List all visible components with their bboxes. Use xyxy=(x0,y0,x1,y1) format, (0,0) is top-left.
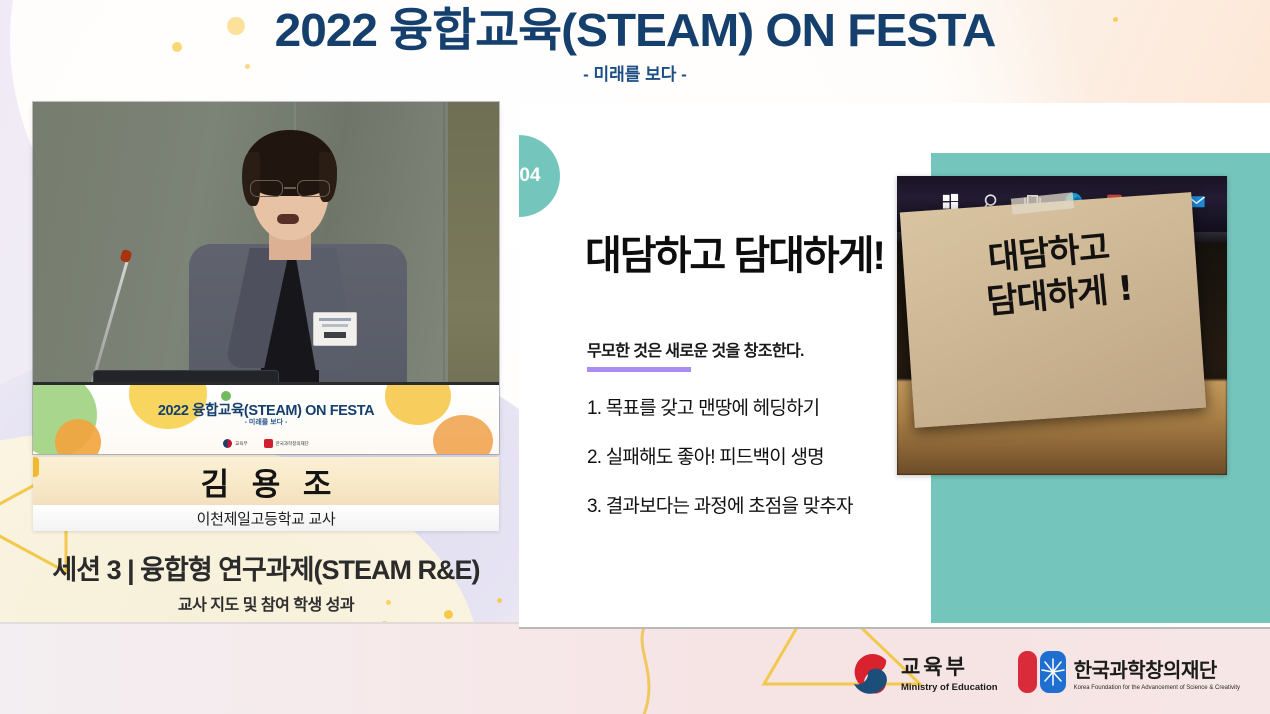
session-title: 세션 3 | 융합형 연구과제(STEAM R&E) xyxy=(33,548,499,587)
kofac-mark-icon xyxy=(264,439,273,448)
podium-logos: 교육부 한국과학창의재단 xyxy=(33,439,499,448)
slide-bullet-list: 1. 목표를 갖고 맨땅에 헤딩하기 2. 실패해도 좋아! 피드백이 생명 3… xyxy=(587,393,853,540)
moe-name-ko: 교육부 xyxy=(901,651,998,681)
podium-logo-moe: 교육부 xyxy=(223,439,247,448)
slide-title: 대담하고 담대하게! xyxy=(585,223,884,281)
session-subtitle: 교사 지도 및 참여 학생 성과 xyxy=(33,591,499,615)
taegeuk-icon xyxy=(223,439,232,448)
logo-kofac: 한국과학창의재단 Korea Foundation for the Advanc… xyxy=(1018,651,1240,693)
kofac-blue-pill xyxy=(1040,651,1066,693)
slide-lead-text: 무모한 것은 새로운 것을 창조한다. xyxy=(587,337,804,361)
presentation-stage: 2022 융합교육(STEAM) ON FESTA - 미래를 보다 - xyxy=(0,0,1270,714)
kofac-red-pill xyxy=(1018,651,1037,693)
kofac-name-en: Korea Foundation for the Advancement of … xyxy=(1074,685,1240,691)
speaker-mouth xyxy=(277,214,299,224)
session-info: 세션 3 | 융합형 연구과제(STEAM R&E) 교사 지도 및 참여 학생… xyxy=(33,548,499,615)
glasses-icon xyxy=(248,180,332,197)
nameplate-tab-decoration xyxy=(33,457,39,477)
speaker-role-row: 이천제일고등학교 교사 xyxy=(33,505,499,531)
kofac-burst-icon xyxy=(1040,651,1066,693)
kofac-text-block: 한국과학창의재단 Korea Foundation for the Advanc… xyxy=(1074,654,1240,691)
speaker-nameplate: 김 용 조 이천제일고등학교 교사 xyxy=(33,457,499,531)
event-subtitle: - 미래를 보다 - xyxy=(0,60,1270,85)
footer-logos: 교육부 Ministry of Education xyxy=(848,650,1240,694)
list-item: 2. 실패해도 좋아! 피드백이 생명 xyxy=(587,442,853,469)
list-item: 3. 결과보다는 과정에 초점을 맞추자 xyxy=(587,491,853,518)
slide-underline-decoration xyxy=(587,367,691,372)
speaker-video[interactable]: 2022 융합교육(STEAM) ON FESTA - 미래를 보다 - 교육부… xyxy=(33,102,499,454)
photo-handwriting: 대담하고 담대하게 ! xyxy=(901,218,1200,331)
logo-ministry-of-education: 교육부 Ministry of Education xyxy=(848,650,998,694)
moe-name-en: Ministry of Education xyxy=(901,682,998,693)
speaker-role: 이천제일고등학교 교사 xyxy=(197,508,336,529)
speaker-name-row: 김 용 조 xyxy=(33,457,499,505)
podium-banner: 2022 융합교육(STEAM) ON FESTA - 미래를 보다 - 교육부… xyxy=(33,382,499,454)
podium-logo-kofac: 한국과학창의재단 xyxy=(264,439,309,448)
podium-logo-moe-label: 교육부 xyxy=(235,441,247,446)
slide-number: 04 xyxy=(519,165,540,187)
podium-logo-kofac-label: 한국과학창의재단 xyxy=(276,441,309,446)
kofac-name-ko: 한국과학창의재단 xyxy=(1074,654,1240,683)
speaker-name-badge xyxy=(313,312,357,346)
taegeuk-icon xyxy=(848,650,892,694)
presentation-slide[interactable]: 04 대담하고 담대하게! 무모한 것은 새로운 것을 창조한다. 1. 목표를… xyxy=(519,103,1270,629)
kofac-mark-icon xyxy=(1018,651,1066,693)
event-title: 2022 융합교육(STEAM) ON FESTA xyxy=(0,6,1270,54)
moe-text-block: 교육부 Ministry of Education xyxy=(901,651,998,693)
slide-photo: 대담하고 담대하게 ! xyxy=(897,176,1227,475)
photo-handwritten-note: 대담하고 담대하게 ! xyxy=(900,192,1206,428)
speaker-hair-side-left xyxy=(242,152,260,206)
podium-banner-subtitle: - 미래를 보다 - xyxy=(33,417,499,427)
slide-number-badge: 04 xyxy=(519,135,560,217)
event-header: 2022 융합교육(STEAM) ON FESTA - 미래를 보다 - xyxy=(0,6,1270,85)
list-item: 1. 목표를 갖고 맨땅에 헤딩하기 xyxy=(587,393,853,420)
speaker-name: 김 용 조 xyxy=(194,459,339,504)
